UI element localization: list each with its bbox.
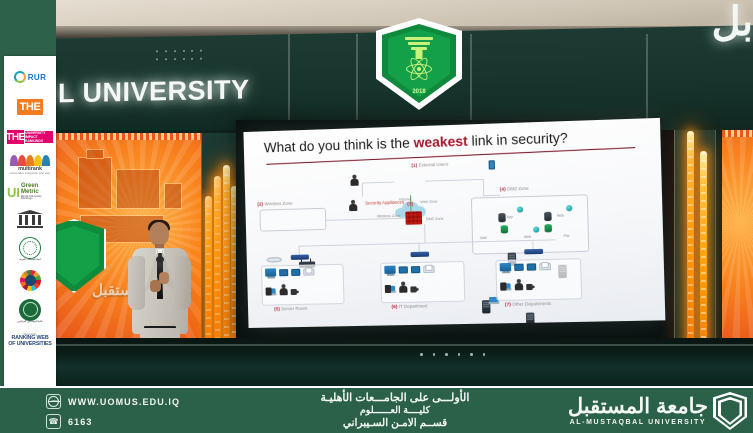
- zone-tag-web: Web Zone: [420, 200, 437, 205]
- wall-sign-arabic: بل: [655, 2, 753, 56]
- monitor-icon: [279, 269, 288, 276]
- monitor-icon: [399, 266, 408, 273]
- led-light-bar: [205, 196, 212, 348]
- dmz-server-label: Web: [524, 235, 531, 239]
- laurel-seal-icon: [19, 237, 41, 259]
- dmz-server-label: Web: [557, 213, 564, 217]
- zone-tag-dmz: DMZ Zone: [426, 217, 444, 222]
- dmz-server-label: App: [507, 215, 513, 219]
- footer-brand-arabic: جامعة المستقبل: [568, 396, 708, 417]
- wall-dot-grid: [156, 50, 208, 65]
- diagram-label-it-department: (6) IT Department: [391, 303, 427, 310]
- diagram-label-external-users: (1) External Users: [411, 162, 448, 169]
- slide-title-suffix: link in security?: [467, 130, 567, 149]
- monitor-icon: [514, 264, 524, 271]
- security-appliances-label: Security Appliances: [364, 199, 405, 206]
- accreditation-logo-strip: RUR THE THE UNIVERSITY IMPACT RANKINGS: [4, 56, 56, 392]
- webometrics-logo: Webometrics RANKING WEB OF UNIVERSITIES: [7, 330, 53, 352]
- floor-light-dots: [420, 353, 485, 356]
- footer-website[interactable]: WWW.UOMUS.EDU.IQ: [68, 397, 180, 407]
- dmz-server-label: Mail: [480, 236, 487, 240]
- user-icon: [399, 281, 407, 292]
- network-switch-icon: [291, 254, 309, 259]
- u-multirank-logo: multirank universities compared. your wa…: [7, 154, 53, 176]
- footer-tagline-1: الأولـــى على الجامـــعات الأهليـة: [250, 391, 540, 404]
- database-green-icon: [544, 224, 552, 232]
- footer-contact: WWW.UOMUS.EDU.IQ ☎ 6163: [46, 394, 246, 433]
- diagram-label-wireless-zone: (2) Wireless Zone: [257, 201, 292, 208]
- monitor-icon: [291, 269, 300, 276]
- footer-brand-english: AL-MUSTAQBAL UNIVERSITY: [568, 419, 708, 426]
- dmz-server-label: File: [564, 234, 570, 238]
- ip-camera-icon: [410, 286, 418, 292]
- sdg-wheel-icon: [20, 270, 41, 291]
- screenshot-root: L UNIVERSITY 2018 بل جامعة المستقبل: [0, 0, 753, 433]
- globe-icon: [46, 394, 61, 409]
- slide-title-prefix: What do you think is the: [264, 135, 414, 155]
- atom-icon: [406, 61, 432, 77]
- footer-tagline-2: كليــــة العــــــلوم: [250, 405, 540, 416]
- times-higher-education-logo: THE: [7, 94, 53, 120]
- printer-icon: [423, 265, 432, 273]
- footer-crest-icon: [713, 392, 747, 430]
- footer-tagline-3: قســم الامـن السـيبراني: [250, 417, 540, 429]
- diagram-label-other-departments: (7) Other Departments: [505, 301, 552, 308]
- classical-building-logo: [7, 208, 53, 230]
- footer-phone[interactable]: 6163: [68, 417, 92, 427]
- external-user-icon: [350, 175, 358, 186]
- footer-phone-row[interactable]: ☎ 6163: [46, 414, 246, 429]
- engineers-union-icon: [19, 299, 41, 321]
- footer-bar: WWW.UOMUS.EDU.IQ ☎ 6163 الأولـــى على ال…: [0, 386, 753, 433]
- dmz-zone-box: [471, 194, 589, 254]
- ip-camera-icon: [291, 289, 299, 295]
- ip-phone-icon: [266, 287, 272, 295]
- arab-universities-association-seal: اتحاد الجامعات العربية: [7, 234, 53, 264]
- presenter-head: [149, 222, 169, 246]
- printer-icon: [303, 267, 312, 275]
- database-cylinder-icon: [544, 212, 552, 221]
- monitor-icon: [527, 263, 537, 270]
- external-user-icon: [349, 200, 357, 211]
- network-diagram: (1) External Users Internet Security Ap: [244, 153, 665, 328]
- ziggurat-icon: [401, 37, 437, 59]
- ip-phone-icon: [385, 285, 391, 293]
- user-icon: [515, 279, 524, 290]
- ui-greenmetric-logo: UI Green Metric World University Ranking…: [7, 180, 53, 204]
- firewall-icon: [405, 211, 422, 225]
- diagram-label-server-room: (5) Server Room: [274, 306, 307, 313]
- diagram-label-dmz-zone: (4) DMZ Zone: [500, 186, 529, 193]
- phone-icon: ☎: [46, 414, 61, 429]
- university-crest-wall: 2018: [376, 18, 462, 110]
- database-cylinder-icon: [498, 213, 506, 222]
- the-impact-rankings-logo: THE UNIVERSITY IMPACT RANKINGS: [7, 124, 53, 150]
- database-green-icon: [501, 225, 508, 233]
- mobile-device-icon: [489, 160, 495, 169]
- desktop-icon: [384, 266, 395, 274]
- network-switch-icon: [524, 249, 543, 255]
- presentation-slide: What do you think is the weakest link in…: [243, 118, 665, 328]
- wireless-access-point-icon: [267, 255, 280, 262]
- classical-building-icon: [17, 210, 43, 228]
- led-light-bar: [687, 131, 694, 353]
- ip-phone-icon: [500, 282, 506, 290]
- ip-camera-icon: [526, 284, 535, 290]
- rur-ranking-logo: RUR: [7, 64, 53, 90]
- footer-taglines: الأولـــى على الجامـــعات الأهليـة كليــ…: [250, 391, 540, 429]
- printer-icon: [539, 262, 549, 270]
- iraqi-engineers-union-seal: نقابة المهندسين العراقيين: [7, 296, 53, 326]
- slide-title-emphasis: weakest: [413, 134, 467, 151]
- footer-brand: جامعة المستقبل AL-MUSTAQBAL UNIVERSITY: [568, 392, 747, 430]
- network-switch-icon: [411, 252, 430, 258]
- slide-title: What do you think is the weakest link in…: [264, 127, 657, 155]
- wireless-zone-box: [259, 208, 326, 232]
- wall-sign-text: L UNIVERSITY: [58, 74, 288, 119]
- diagram-label-firewall: (3): [407, 201, 413, 207]
- footer-website-row[interactable]: WWW.UOMUS.EDU.IQ: [46, 394, 246, 409]
- user-icon: [279, 284, 287, 295]
- monitor-icon: [411, 266, 420, 273]
- desktop-icon: [265, 268, 276, 276]
- led-light-bar: [214, 176, 221, 352]
- led-light-bar: [223, 165, 230, 345]
- crest-year: 2018: [376, 89, 462, 95]
- sdg-wheel-logo: [7, 268, 53, 292]
- desktop-icon: [500, 263, 512, 271]
